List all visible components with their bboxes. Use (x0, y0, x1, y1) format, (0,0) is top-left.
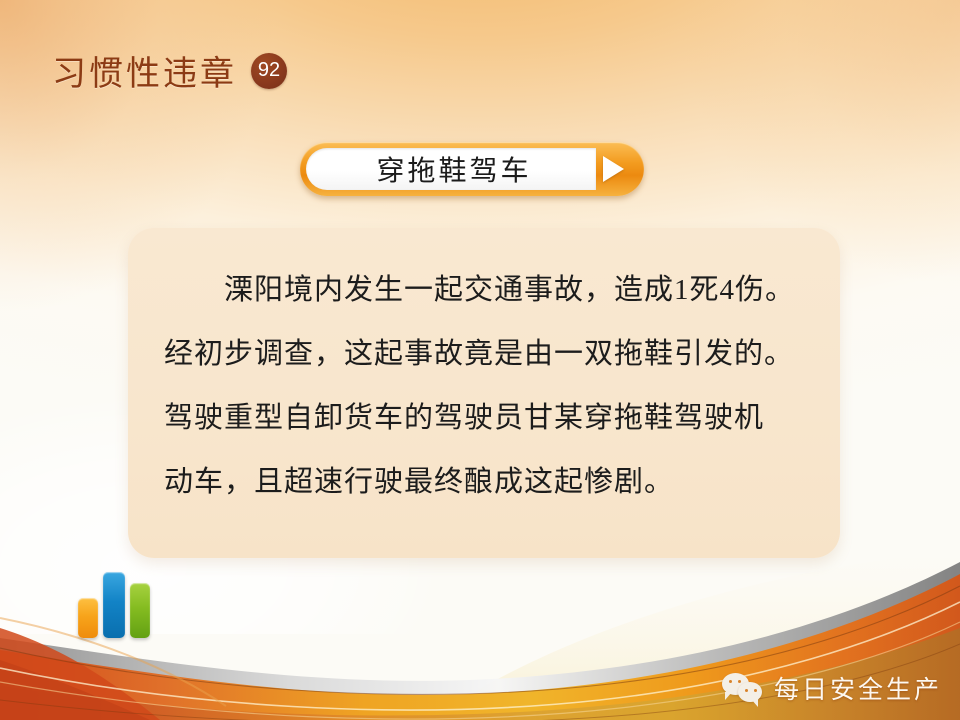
status-badge: 92 (251, 53, 287, 89)
watermark: 每日安全生产 (722, 670, 942, 706)
page-title: 习惯性违章 92 (52, 46, 287, 95)
content-card: 溧阳境内发生一起交通事故，造成1死4伤。 经初步调查，这起事故竟是由一双拖鞋引发… (128, 228, 840, 558)
blue-bar (103, 572, 125, 638)
green-bar (130, 583, 150, 638)
wechat-icon (722, 673, 764, 703)
wechat-bubble-small (738, 682, 762, 702)
section-banner[interactable]: 穿拖鞋驾车 (300, 142, 644, 196)
section-banner-label: 穿拖鞋驾车 (370, 149, 531, 189)
content-line: 驾驶重型自卸货车的驾驶员甘某穿拖鞋驾驶机 (164, 386, 804, 450)
content-line: 经初步调查，这起事故竟是由一双拖鞋引发的。 (164, 322, 804, 386)
page-title-text: 习惯性违章 (52, 46, 237, 95)
orange-bar (78, 598, 98, 638)
section-banner-pill: 穿拖鞋驾车 (306, 148, 596, 190)
content-line: 溧阳境内发生一起交通事故，造成1死4伤。 (164, 258, 804, 322)
bar-chart-logo-icon (78, 572, 150, 638)
slide-canvas: 习惯性违章 92 穿拖鞋驾车 溧阳境内发生一起交通事故，造成1死4伤。 经初步调… (0, 0, 960, 720)
section-banner-inner: 穿拖鞋驾车 (306, 148, 638, 190)
play-triangle-icon[interactable] (603, 156, 624, 182)
content-card-body: 溧阳境内发生一起交通事故，造成1死4伤。 经初步调查，这起事故竟是由一双拖鞋引发… (164, 258, 804, 514)
watermark-label: 每日安全生产 (774, 670, 942, 706)
content-line: 动车，且超速行驶最终酿成这起惨剧。 (164, 450, 804, 514)
